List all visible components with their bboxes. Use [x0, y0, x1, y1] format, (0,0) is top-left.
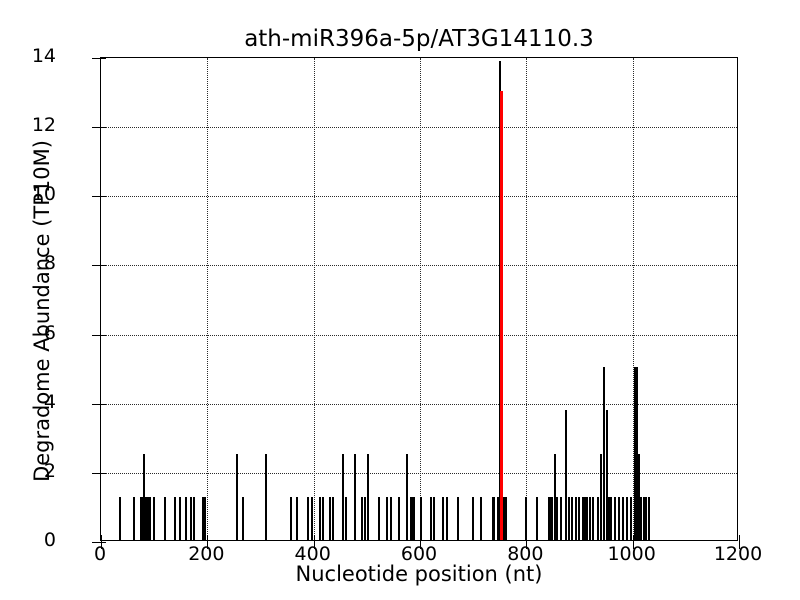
degradome-bar — [442, 497, 444, 540]
y-tick-inner — [101, 127, 106, 128]
degradome-bar — [311, 497, 313, 540]
gridline-vertical — [207, 58, 208, 540]
y-tick-label: 12 — [0, 116, 56, 135]
y-tick — [92, 127, 101, 128]
x-tick-inner — [420, 535, 421, 540]
gridline-vertical — [526, 58, 527, 540]
y-tick-label: 6 — [0, 324, 56, 343]
degradome-bar — [446, 497, 448, 540]
x-tick-label: 600 — [379, 545, 459, 564]
degradome-bar — [571, 497, 573, 540]
x-tick-inner — [633, 535, 634, 540]
gridline-horizontal — [101, 404, 737, 405]
x-tick-inner — [207, 535, 208, 540]
y-tick — [92, 196, 101, 197]
degradome-bar — [319, 497, 321, 540]
degradome-bar — [354, 454, 356, 540]
degradome-bar — [193, 497, 195, 540]
degradome-bar — [597, 497, 599, 540]
degradome-bar — [556, 497, 558, 540]
degradome-bar — [378, 497, 380, 540]
degradome-bar — [242, 497, 244, 540]
degradome-bar — [480, 497, 482, 540]
degradome-bar — [204, 497, 206, 540]
y-tick-inner — [101, 265, 106, 266]
x-tick-label: 1000 — [592, 545, 672, 564]
y-tick-label: 10 — [0, 185, 56, 204]
degradome-bar — [457, 497, 459, 540]
x-tick-label: 0 — [60, 545, 140, 564]
degradome-bar — [342, 454, 344, 540]
degradome-bar — [364, 497, 366, 540]
y-tick — [92, 265, 101, 266]
degradome-bar — [622, 497, 624, 540]
x-axis-label: Nucleotide position (nt) — [100, 562, 738, 586]
y-tick-inner — [101, 58, 106, 59]
degradome-bar — [307, 497, 309, 540]
degradome-bar — [265, 454, 267, 540]
x-tick-inner — [526, 535, 527, 540]
degradome-bar — [185, 497, 187, 540]
degradome-bar — [575, 497, 577, 540]
degradome-bar — [589, 497, 591, 540]
x-tick-label: 800 — [485, 545, 565, 564]
y-tick-label: 8 — [0, 254, 56, 273]
degradome-bar — [505, 497, 507, 540]
x-tick-label: 400 — [273, 545, 353, 564]
degradome-bar — [406, 454, 408, 540]
degradome-bar — [164, 497, 166, 540]
chart-title: ath-miR396a-5p/AT3G14110.3 — [100, 26, 738, 52]
y-tick-inner — [101, 473, 106, 474]
x-tick-inner — [314, 535, 315, 540]
degradome-bar — [630, 497, 632, 540]
degradome-bar — [568, 497, 570, 540]
degradome-bar — [133, 497, 135, 540]
degradome-bar — [618, 497, 620, 540]
y-tick-label: 4 — [0, 393, 56, 412]
degradome-bar — [565, 410, 567, 540]
degradome-bar — [525, 497, 527, 540]
y-tick — [92, 58, 101, 59]
y-tick — [92, 335, 101, 336]
degradome-bar — [174, 497, 176, 540]
x-tick-label: 1200 — [698, 545, 778, 564]
degradome-bar — [398, 497, 400, 540]
degradome-bar — [648, 497, 650, 540]
gridline-vertical — [420, 58, 421, 540]
degradome-bar — [626, 497, 628, 540]
degradome-plot-figure: ath-miR396a-5p/AT3G14110.3 Degradome Abu… — [0, 0, 800, 600]
degradome-bar — [493, 497, 495, 540]
degradome-bar — [592, 497, 594, 540]
gridline-horizontal — [101, 127, 737, 128]
degradome-bar — [560, 497, 562, 540]
degradome-bar — [600, 454, 602, 540]
gridline-horizontal — [101, 473, 737, 474]
gridline-horizontal — [101, 196, 737, 197]
degradome-bar — [578, 497, 580, 540]
degradome-bar — [472, 497, 474, 540]
degradome-bar — [332, 497, 334, 540]
degradome-bar — [610, 497, 612, 540]
degradome-bar — [386, 497, 388, 540]
degradome-bar — [390, 497, 392, 540]
degradome-bar — [296, 497, 298, 540]
degradome-bar — [236, 454, 238, 540]
degradome-bar — [153, 497, 155, 540]
degradome-bar — [433, 497, 435, 540]
degradome-bar — [329, 497, 331, 540]
degradome-bar — [420, 497, 422, 540]
gridline-vertical — [314, 58, 315, 540]
degradome-bar — [179, 497, 181, 540]
gridline-horizontal — [101, 265, 737, 266]
plot-area — [101, 58, 737, 540]
x-tick-inner — [739, 535, 740, 540]
gridline-horizontal — [101, 335, 737, 336]
y-tick — [92, 404, 101, 405]
degradome-bar — [536, 497, 538, 540]
y-tick-inner — [101, 335, 106, 336]
x-tick-inner — [101, 535, 102, 540]
degradome-bar — [614, 497, 616, 540]
degradome-bar — [586, 497, 588, 540]
y-tick-label: 2 — [0, 462, 56, 481]
cleavage-site-bar — [500, 91, 503, 540]
degradome-bar — [640, 497, 642, 540]
plot-frame — [100, 57, 738, 541]
degradome-bar — [361, 497, 363, 540]
degradome-bar — [119, 497, 121, 540]
y-tick-inner — [101, 404, 106, 405]
degradome-bar — [413, 497, 415, 540]
degradome-bar — [290, 497, 292, 540]
y-tick-inner — [101, 196, 106, 197]
degradome-bar — [430, 497, 432, 540]
degradome-bar — [367, 454, 369, 540]
degradome-bar — [345, 497, 347, 540]
y-tick — [92, 473, 101, 474]
y-tick-label: 14 — [0, 47, 56, 66]
y-tick-label: 0 — [0, 531, 56, 550]
x-tick-label: 200 — [166, 545, 246, 564]
degradome-bar — [149, 497, 151, 540]
degradome-bar — [322, 497, 324, 540]
